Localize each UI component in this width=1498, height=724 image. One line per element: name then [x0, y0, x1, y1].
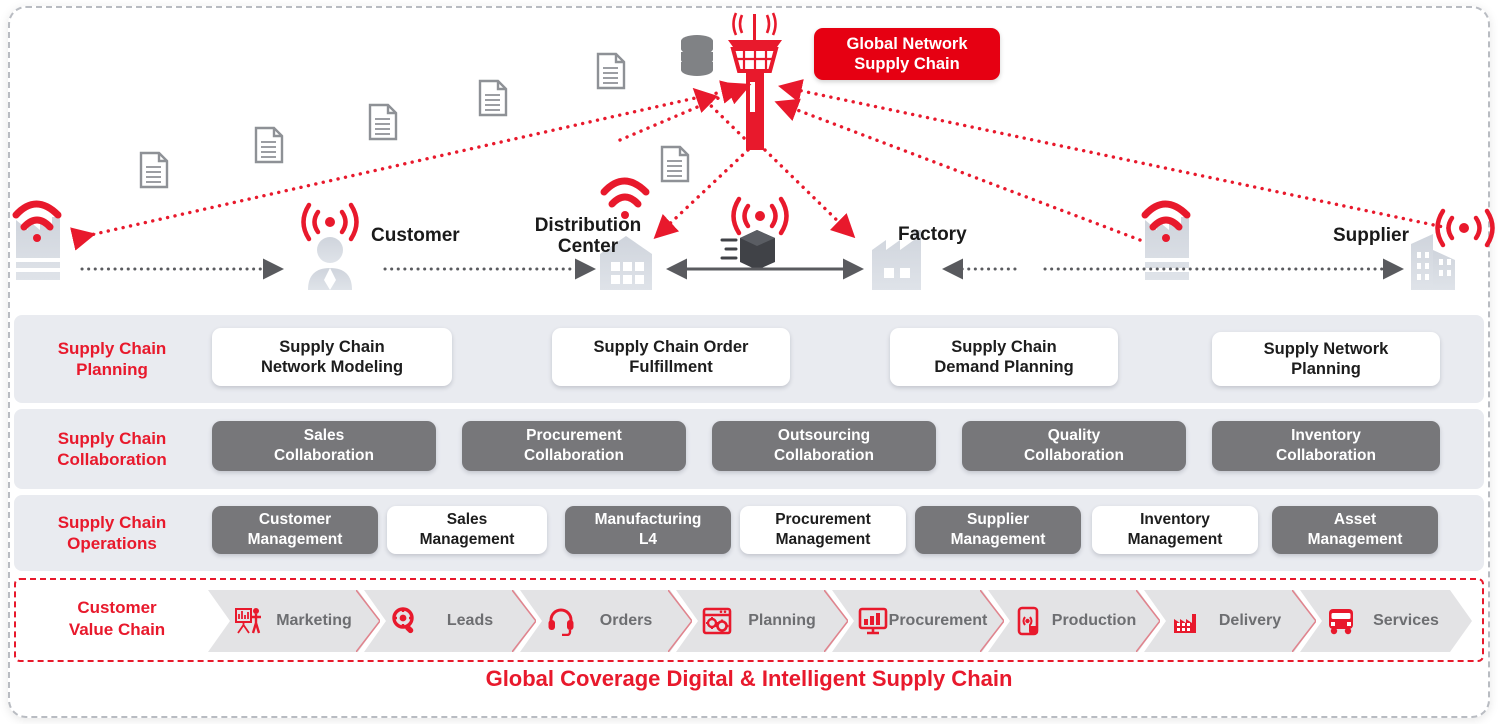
value-chain-step-services[interactable]: Services	[1300, 590, 1472, 652]
hub-link-lines-2	[620, 88, 742, 140]
hub-link-lines	[86, 88, 1448, 240]
value-chain-label-marketing: Marketing	[264, 612, 380, 630]
value-chain-label-production: Production	[1044, 612, 1160, 630]
rss-signal-icon	[304, 205, 357, 239]
mobile-touch-icon	[1014, 606, 1044, 636]
layer-supply-chain-planning: Supply Chain Planning Supply Chain Netwo…	[14, 315, 1484, 403]
customer-value-chain-section: Customer Value Chain Marketing	[14, 578, 1484, 662]
node-label-customer: Customer	[371, 225, 460, 246]
wifi-icon	[604, 181, 646, 219]
node-label-distribution-center: DistributionCenter	[528, 215, 648, 257]
bus-icon	[1326, 606, 1356, 636]
layer-supply-chain-collaboration: Supply Chain Collaboration Sales Collabo…	[14, 409, 1484, 489]
value-chain-label-orders: Orders	[576, 612, 692, 630]
operations-cards: Customer Management Sales Management Man…	[210, 495, 1484, 571]
card-supply-chain-demand-planning[interactable]: Supply Chain Demand Planning	[890, 328, 1118, 386]
layer-title-planning: Supply Chain Planning	[14, 338, 210, 380]
document-icon	[141, 54, 688, 187]
card-supply-chain-order-fulfillment[interactable]: Supply Chain Order Fulfillment	[552, 328, 790, 386]
rss-signal-icon	[734, 199, 787, 233]
footer-caption: Global Coverage Digital & Intelligent Su…	[0, 666, 1498, 692]
card-asset-management[interactable]: Asset Management	[1272, 506, 1438, 554]
magnifier-target-icon	[390, 606, 420, 636]
control-tower-icon	[728, 13, 782, 150]
value-chain-label-services: Services	[1356, 612, 1472, 630]
value-chain-step-leads[interactable]: Leads	[364, 590, 536, 652]
card-procurement-collaboration[interactable]: Procurement Collaboration	[462, 421, 686, 471]
value-chain-label-delivery: Delivery	[1200, 612, 1316, 630]
card-supply-chain-network-modeling[interactable]: Supply Chain Network Modeling	[212, 328, 452, 386]
node-label-factory: Factory	[898, 224, 967, 245]
value-chain-steps: Marketing Leads	[208, 590, 1478, 652]
value-chain-step-orders[interactable]: Orders	[520, 590, 692, 652]
diagram-canvas: Global Network Supply Chain Customer Dis…	[0, 0, 1498, 724]
value-chain-step-planning[interactable]: Planning	[676, 590, 848, 652]
rss-signal-icon	[1438, 211, 1493, 245]
card-customer-management[interactable]: Customer Management	[212, 506, 378, 554]
bar-chart-monitor-icon	[858, 606, 888, 636]
customer-person-icon	[308, 237, 352, 290]
collaboration-cards: Sales Collaboration Procurement Collabor…	[210, 409, 1484, 489]
value-chain-label-procurement: Procurement	[888, 612, 1004, 630]
factory-building-icon	[1170, 606, 1200, 636]
global-network-badge: Global Network Supply Chain	[814, 28, 1000, 80]
package-box-icon	[722, 230, 775, 270]
value-chain-step-delivery[interactable]: Delivery	[1144, 590, 1316, 652]
office-building-icon	[1411, 234, 1455, 290]
card-inventory-management[interactable]: Inventory Management	[1092, 506, 1258, 554]
presentation-board-icon	[234, 606, 264, 636]
gear-window-icon	[702, 606, 732, 636]
value-chain-step-procurement[interactable]: Procurement	[832, 590, 1004, 652]
layer-title-operations: Supply Chain Operations	[14, 512, 210, 554]
card-outsourcing-collaboration[interactable]: Outsourcing Collaboration	[712, 421, 936, 471]
card-quality-collaboration[interactable]: Quality Collaboration	[962, 421, 1186, 471]
layer-supply-chain-operations: Supply Chain Operations Customer Managem…	[14, 495, 1484, 571]
card-supply-network-planning[interactable]: Supply Network Planning	[1212, 332, 1440, 386]
badge-line-2: Supply Chain	[854, 54, 959, 74]
card-inventory-collaboration[interactable]: Inventory Collaboration	[1212, 421, 1440, 471]
card-manufacturing-l4[interactable]: Manufacturing L4	[565, 506, 731, 554]
value-chain-label-leads: Leads	[420, 612, 536, 630]
card-procurement-management[interactable]: Procurement Management	[740, 506, 906, 554]
planning-cards: Supply Chain Network Modeling Supply Cha…	[210, 315, 1484, 403]
node-label-supplier: Supplier	[1333, 225, 1409, 246]
card-sales-management[interactable]: Sales Management	[387, 506, 547, 554]
layer-title-collaboration: Supply Chain Collaboration	[14, 428, 210, 470]
value-chain-step-marketing[interactable]: Marketing	[208, 590, 380, 652]
value-chain-label-planning: Planning	[732, 612, 848, 630]
value-chain-step-production[interactable]: Production	[988, 590, 1160, 652]
network-graphics	[0, 0, 1498, 310]
badge-line-1: Global Network	[846, 34, 967, 54]
card-supplier-management[interactable]: Supplier Management	[915, 506, 1081, 554]
database-stack-icon	[681, 35, 713, 76]
headset-icon	[546, 606, 576, 636]
card-sales-collaboration[interactable]: Sales Collaboration	[212, 421, 436, 471]
network-topology-section: Global Network Supply Chain Customer Dis…	[0, 0, 1498, 310]
value-chain-title: Customer Value Chain	[24, 597, 210, 641]
